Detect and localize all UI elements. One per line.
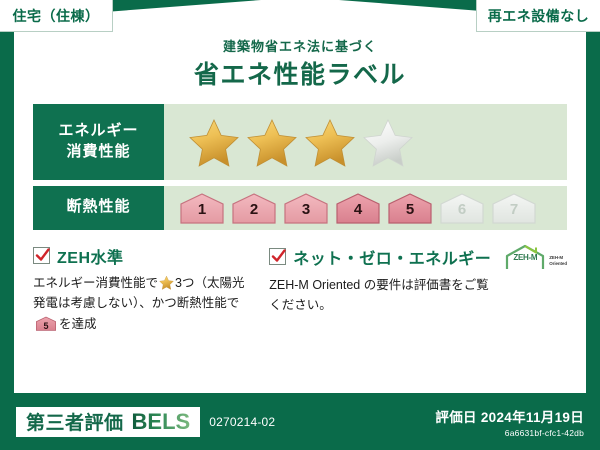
zeh-m-side-line2: Oriented xyxy=(549,261,567,267)
star-filled-icon xyxy=(246,116,298,168)
star-rating xyxy=(188,116,414,168)
grade-house-scale: 1 2 3 xyxy=(178,192,538,224)
grade-house-1: 1 xyxy=(178,192,226,224)
grade-number: 7 xyxy=(490,201,538,218)
grade-number: 1 xyxy=(178,201,226,218)
bels-badge: 第三者評価 BELS xyxy=(16,407,200,437)
grade-number: 4 xyxy=(334,201,382,218)
inline-star-icon xyxy=(159,275,174,290)
grade-house-6: 6 xyxy=(438,192,486,224)
label-uuid: 6a6631bf-cfc1-42db xyxy=(435,428,584,438)
nzeb-criterion-body: ZEH-M Oriented の要件は評価書をご覧 ください。 xyxy=(269,275,567,316)
inline-grade-house: 5 xyxy=(35,316,57,331)
energy-label-line1: エネルギー xyxy=(58,121,138,141)
building-type-tag-label: 住宅（住棟） xyxy=(13,6,100,26)
footer-evaluation-info: 評価日 2024年11月19日 6a6631bf-cfc1-42db xyxy=(435,406,584,438)
grade-number: 5 xyxy=(386,201,434,218)
insulation-label-text: 断熱性能 xyxy=(66,197,130,217)
heading-title: 省エネ性能ラベル xyxy=(14,60,586,90)
check-icon xyxy=(271,249,286,264)
zeh-m-logo: ZEH-M ZEH-M Oriented xyxy=(503,244,567,270)
zeh-criterion: ZEH水準 エネルギー消費性能で3つ（太陽光発電は考慮しない）、かつ断熱性能で5… xyxy=(33,244,255,335)
zeh-body-part3: を達成 xyxy=(59,317,97,331)
energy-performance-value xyxy=(164,104,567,180)
performance-rows: エネルギー 消費性能 xyxy=(33,104,567,230)
insulation-performance-label: 断熱性能 xyxy=(33,186,164,230)
building-type-tag: 住宅（住棟） xyxy=(0,0,113,32)
grade-house-3: 3 xyxy=(282,192,330,224)
grade-number: 6 xyxy=(438,201,486,218)
zeh-criterion-body: エネルギー消費性能で3つ（太陽光発電は考慮しない）、かつ断熱性能で5を達成 xyxy=(33,273,255,335)
grade-house-2: 2 xyxy=(230,192,278,224)
inline-grade-number: 5 xyxy=(35,319,57,334)
zeh-m-logo-text: ZEH-M xyxy=(503,253,547,262)
evaluation-date: 評価日 2024年11月19日 xyxy=(435,406,584,426)
bels-number: 0270214-02 xyxy=(209,415,275,429)
bels-logo-text: BELS xyxy=(132,409,191,435)
energy-performance-label: エネルギー 消費性能 xyxy=(33,104,164,180)
bels-japanese-label: 第三者評価 xyxy=(26,408,124,435)
star-filled-icon xyxy=(188,116,240,168)
insulation-performance-value: 1 2 3 xyxy=(164,186,567,230)
grade-number: 3 xyxy=(282,201,330,218)
zeh-m-logo-side-text: ZEH-M Oriented xyxy=(549,255,567,269)
star-filled-icon xyxy=(304,116,356,168)
zeh-m-house-icon: ZEH-M xyxy=(503,244,547,270)
grade-house-5: 5 xyxy=(386,192,434,224)
zeh-criterion-header: ZEH水準 xyxy=(33,244,255,268)
insulation-performance-row: 断熱性能 xyxy=(33,186,567,230)
energy-label-line2: 消費性能 xyxy=(58,142,138,162)
grade-number: 2 xyxy=(230,201,278,218)
nzeb-criterion: ネット・ゼロ・エネルギー ZEH-M ZEH-M Oriented xyxy=(255,244,567,335)
heading-subtitle: 建築物省エネ法に基づく xyxy=(14,39,586,55)
zeh-checkbox[interactable] xyxy=(33,247,50,264)
nzeb-body-line1: ZEH-M Oriented の要件は評価書をご覧 xyxy=(269,275,567,296)
zeh-body-part2: は考慮しない）、かつ断熱性能で xyxy=(58,296,239,310)
label-footer: 第三者評価 BELS 0270214-02 評価日 2024年11月19日 6a… xyxy=(0,393,600,450)
energy-performance-label: 住宅（住棟） 再エネ設備なし 建築物省エネ法に基づく 省エネ性能ラベル エネルギ… xyxy=(0,0,600,450)
zeh-body-part1: エネルギー消費性能で xyxy=(33,276,158,290)
renewable-energy-tag: 再エネ設備なし xyxy=(476,0,600,32)
grade-house-4: 4 xyxy=(334,192,382,224)
nzeb-criterion-title: ネット・ゼロ・エネルギー xyxy=(293,245,491,269)
energy-performance-row: エネルギー 消費性能 xyxy=(33,104,567,180)
grade-house-7: 7 xyxy=(490,192,538,224)
nzeb-criterion-header: ネット・ゼロ・エネルギー ZEH-M ZEH-M Oriented xyxy=(269,244,567,270)
renewable-energy-tag-label: 再エネ設備なし xyxy=(488,6,590,26)
criteria-section: ZEH水準 エネルギー消費性能で3つ（太陽光発電は考慮しない）、かつ断熱性能で5… xyxy=(33,244,567,335)
zeh-criterion-title: ZEH水準 xyxy=(57,244,124,268)
nzeb-checkbox[interactable] xyxy=(269,248,286,265)
star-empty-icon xyxy=(362,116,414,168)
nzeb-body-line2: ください。 xyxy=(269,295,567,316)
check-icon xyxy=(35,248,50,263)
label-panel: 建築物省エネ法に基づく 省エネ性能ラベル エネルギー 消費性能 xyxy=(14,17,586,393)
